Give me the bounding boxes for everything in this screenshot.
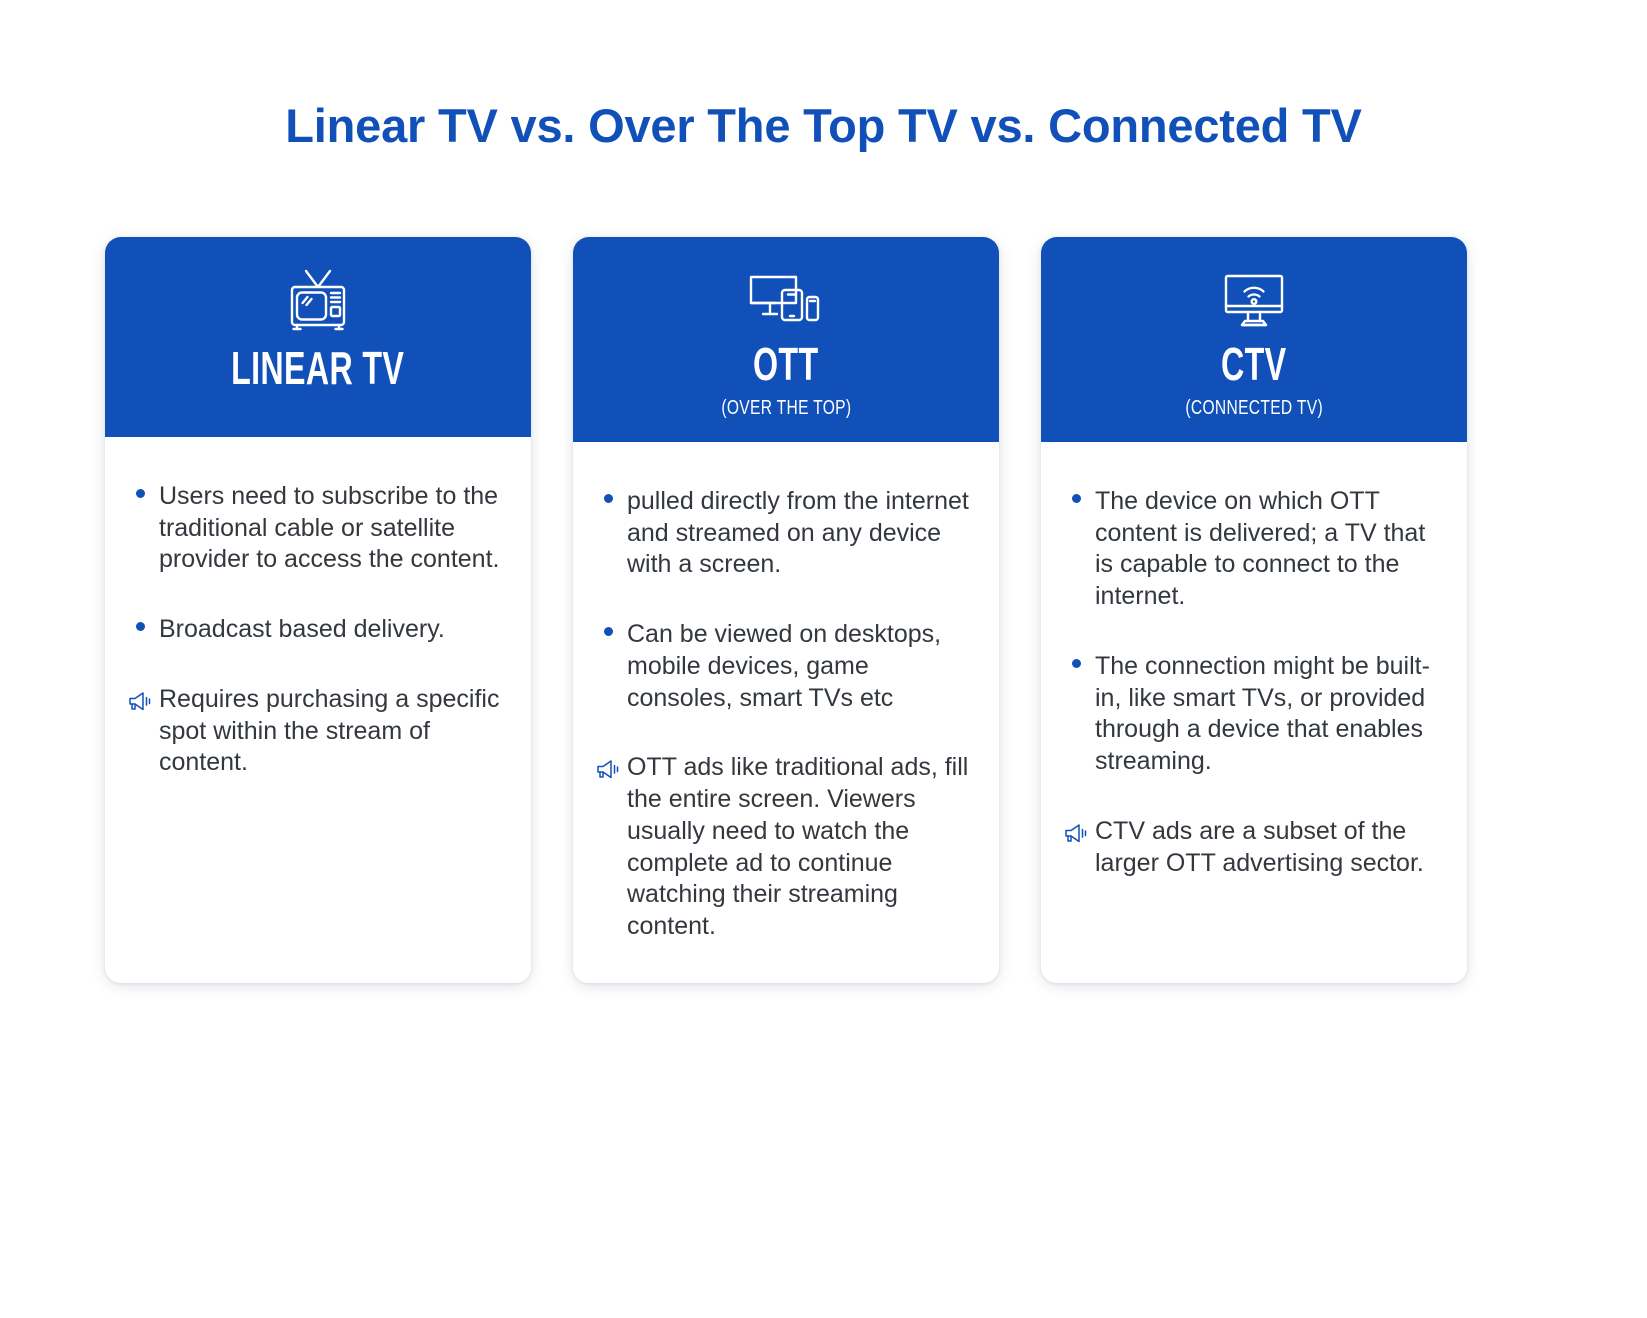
wifi-monitor-icon bbox=[1218, 265, 1290, 337]
card-body-ott: pulled directly from the internet and st… bbox=[573, 442, 999, 983]
retro-tv-icon bbox=[280, 265, 356, 337]
list-item-text: The device on which OTT content is deliv… bbox=[1095, 486, 1437, 613]
bullet-dot-icon bbox=[121, 614, 159, 631]
comparison-cards-row: LINEAR TV Users need to subscribe to the… bbox=[105, 237, 1467, 983]
list-item-text: Users need to subscribe to the tradition… bbox=[159, 481, 501, 576]
bullet-dot-icon bbox=[1057, 651, 1095, 668]
card-body-linear-tv: Users need to subscribe to the tradition… bbox=[105, 437, 531, 983]
list-item: Can be viewed on desktops, mobile device… bbox=[589, 619, 969, 714]
list-item: The connection might be built-in, like s… bbox=[1057, 651, 1437, 778]
list-item-text: Requires purchasing a specific spot with… bbox=[159, 684, 501, 779]
card-ctv: CTV (CONNECTED TV) The device on which O… bbox=[1041, 237, 1467, 983]
megaphone-icon bbox=[121, 684, 159, 713]
list-item-text: Broadcast based delivery. bbox=[159, 614, 501, 646]
card-title-linear-tv: LINEAR TV bbox=[231, 345, 404, 393]
list-item: Requires purchasing a specific spot with… bbox=[121, 684, 501, 779]
list-item: Users need to subscribe to the tradition… bbox=[121, 481, 501, 576]
list-item: Broadcast based delivery. bbox=[121, 614, 501, 646]
card-subtitle-ott: (OVER THE TOP) bbox=[721, 397, 851, 420]
list-item: pulled directly from the internet and st… bbox=[589, 486, 969, 581]
multi-device-icon bbox=[746, 265, 826, 337]
card-ott: OTT (OVER THE TOP) pulled directly from … bbox=[573, 237, 999, 983]
card-subtitle-ctv: (CONNECTED TV) bbox=[1185, 397, 1323, 420]
bullet-dot-icon bbox=[589, 486, 627, 503]
page-title: Linear TV vs. Over The Top TV vs. Connec… bbox=[0, 98, 1647, 153]
card-header-ott: OTT (OVER THE TOP) bbox=[573, 237, 999, 442]
bullet-dot-icon bbox=[121, 481, 159, 498]
list-item-text: pulled directly from the internet and st… bbox=[627, 486, 969, 581]
card-linear-tv: LINEAR TV Users need to subscribe to the… bbox=[105, 237, 531, 983]
list-item-text: OTT ads like traditional ads, fill the e… bbox=[627, 752, 969, 943]
list-item-text: CTV ads are a subset of the larger OTT a… bbox=[1095, 816, 1437, 880]
card-header-ctv: CTV (CONNECTED TV) bbox=[1041, 237, 1467, 442]
card-title-ctv: CTV bbox=[1221, 341, 1286, 389]
card-title-ott: OTT bbox=[753, 341, 818, 389]
list-item: The device on which OTT content is deliv… bbox=[1057, 486, 1437, 613]
bullet-dot-icon bbox=[589, 619, 627, 636]
list-item: CTV ads are a subset of the larger OTT a… bbox=[1057, 816, 1437, 880]
list-item: OTT ads like traditional ads, fill the e… bbox=[589, 752, 969, 943]
list-item-text: The connection might be built-in, like s… bbox=[1095, 651, 1437, 778]
megaphone-icon bbox=[1057, 816, 1095, 845]
card-body-ctv: The device on which OTT content is deliv… bbox=[1041, 442, 1467, 983]
bullet-dot-icon bbox=[1057, 486, 1095, 503]
megaphone-icon bbox=[589, 752, 627, 781]
card-header-linear-tv: LINEAR TV bbox=[105, 237, 531, 437]
list-item-text: Can be viewed on desktops, mobile device… bbox=[627, 619, 969, 714]
infographic-page: Linear TV vs. Over The Top TV vs. Connec… bbox=[0, 0, 1647, 1318]
